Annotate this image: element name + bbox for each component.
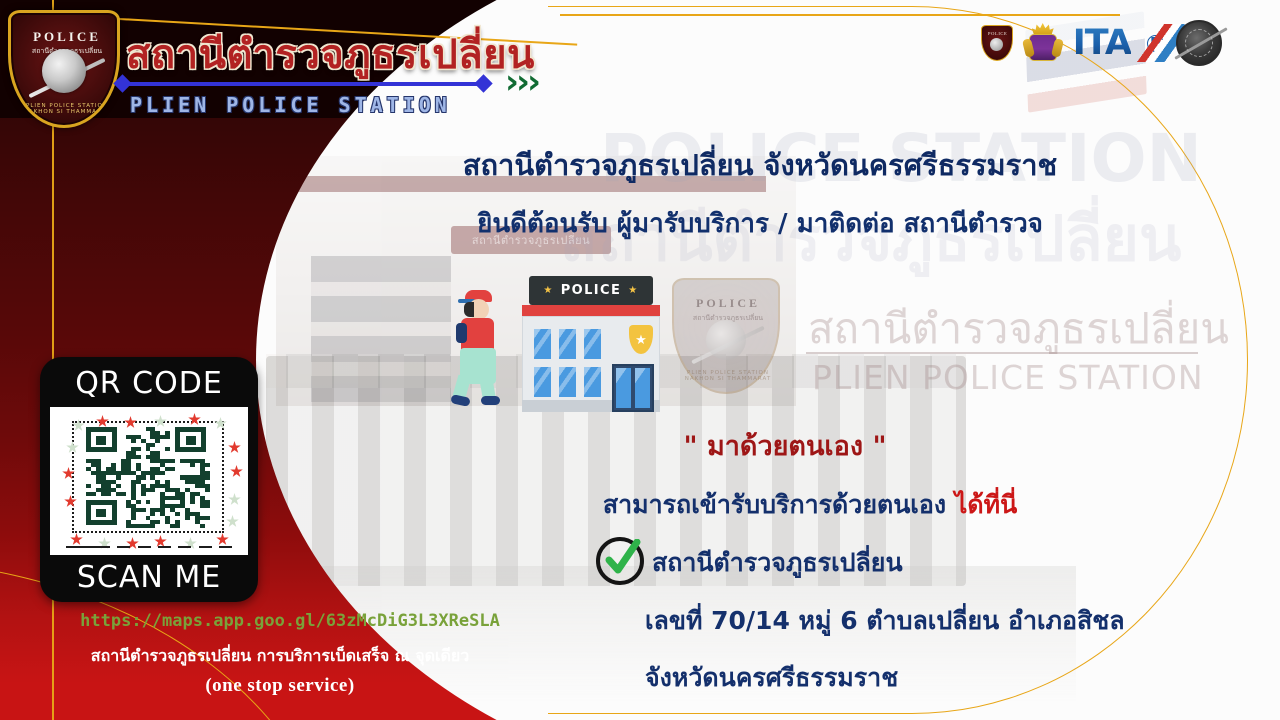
seal-pin-icon (1174, 27, 1227, 60)
person-shoe-right-icon (481, 396, 500, 405)
qr-module (170, 459, 175, 463)
building-window (558, 328, 577, 360)
qr-code-panel[interactable]: QR CODE SCAN ME (40, 357, 258, 602)
address-line-3: จังหวัดนครศรีธรรมราช (645, 658, 898, 698)
building-window (533, 366, 552, 398)
qr-module (141, 508, 146, 512)
qr-star-icon (230, 465, 243, 478)
qr-module (146, 500, 151, 504)
address-line-1: สถานีตำรวจภูธรเปลี่ยน (652, 543, 903, 583)
qr-module (116, 484, 121, 488)
watermark-shield-icon: POLICE สถานีตำรวจภูธรเปลี่ยน PLIEN POLIC… (672, 278, 780, 394)
walking-person-icon (455, 290, 511, 408)
qr-module (160, 471, 165, 475)
badge-sword-icon (28, 58, 105, 98)
person-bag-icon (456, 323, 467, 343)
qr-caption-en: (one stop service) (0, 675, 560, 697)
royal-thai-police-garuda-logo-icon (1025, 23, 1061, 63)
building-signboard: ★ POLICE ★ (529, 276, 653, 305)
address-line-2: เลขที่ 70/14 หมู่ 6 ตำบลเปลี่ยน อำเภอสิช… (645, 601, 1125, 641)
police-badge-logo-icon: POLICE (981, 25, 1013, 61)
qr-module (200, 524, 205, 528)
service-text-main: สามารถเข้ารับบริการด้วยตนเอง (603, 490, 955, 519)
building-window-row-top (533, 328, 602, 360)
building-door-icon (612, 364, 654, 412)
qr-finder-pattern (175, 427, 206, 452)
qr-module (141, 475, 146, 479)
qr-star-icon (126, 537, 139, 550)
qr-module (136, 447, 141, 451)
qr-module (175, 524, 180, 528)
qr-module (185, 516, 190, 520)
government-seal-logo-icon (1176, 20, 1222, 66)
ita-logo-icon: ITA P (1073, 21, 1164, 65)
poster-canvas: สถานีตำรวจภูธรเปลี่ยน POLICE สถานีตำรวจภ… (0, 0, 1280, 720)
building-window (583, 328, 602, 360)
badge-police-label: POLICE (11, 29, 120, 45)
qr-star-icon (228, 493, 241, 506)
qr-module (175, 512, 180, 516)
police-badge-logo-label: POLICE (982, 31, 1014, 36)
watermark-underline (806, 352, 1198, 354)
badge-arc-label: PLIEN POLICE STATION NAKHON SI THAMMARAT (11, 103, 120, 115)
qr-module (205, 463, 210, 467)
blue-divider-rule (122, 82, 484, 86)
building-red-band (522, 305, 660, 316)
watermark-station-name-en: PLIEN POLICE STATION (812, 358, 1204, 397)
qr-panel-title: QR CODE (40, 366, 258, 401)
qr-module (131, 439, 136, 443)
signboard-star-left-icon: ★ (543, 285, 553, 296)
qr-module (116, 475, 121, 479)
qr-module (91, 492, 96, 496)
qr-star-icon (228, 441, 241, 454)
header-station-name-th: สถานีตำรวจภูธรเปลี่ยน (126, 22, 535, 86)
header-station-name-en: PLIEN POLICE STATION (130, 93, 451, 117)
qr-finder-pattern (86, 427, 117, 452)
qr-module (150, 524, 155, 528)
qr-star-icon (226, 515, 239, 528)
quote-text: " มาด้วยตนเอง " (560, 424, 1010, 467)
qr-module (150, 443, 155, 447)
check-circle-icon (596, 537, 644, 585)
qr-module (121, 492, 126, 496)
partner-logo-row: POLICE ITA P (981, 20, 1222, 66)
qr-module (150, 512, 155, 516)
person-hair-icon (464, 302, 474, 317)
qr-module (205, 504, 210, 508)
qr-star-icon (216, 533, 229, 546)
page-subtitle: ยินดีต้อนรับ ผู้มารับบริการ / มาติดต่อ ส… (360, 203, 1160, 244)
chevron-right-icon: ››› (505, 62, 538, 102)
page-title: สถานีตำรวจภูธรเปลี่ยน จังหวัดนครศรีธรรมร… (360, 142, 1160, 188)
qr-module (150, 488, 155, 492)
qr-code-image[interactable] (86, 427, 210, 528)
qr-module (141, 492, 146, 496)
qr-module (155, 439, 160, 443)
gold-top-rule (560, 14, 1120, 16)
qr-star-icon (98, 537, 111, 550)
service-availability-text: สามารถเข้ารับบริการด้วยตนเอง ได้ที่นี่ (530, 485, 1090, 525)
signboard-label: POLICE (561, 283, 622, 298)
building-window (558, 366, 577, 398)
qr-code-surface[interactable] (50, 407, 248, 555)
qr-module (106, 492, 111, 496)
qr-module (136, 455, 141, 459)
building-window (533, 328, 552, 360)
qr-module (190, 463, 195, 467)
qr-module (165, 447, 170, 451)
qr-star-icon (70, 533, 83, 546)
qr-finder-pattern (86, 500, 117, 525)
badge-thai-label: สถานีตำรวจภูธรเปลี่ยน (11, 46, 120, 57)
qr-bottom-dashes (66, 546, 232, 548)
watermark-shield-thai-label: สถานีตำรวจภูธรเปลี่ยน (674, 313, 782, 324)
police-shield-badge-icon: POLICE สถานีตำรวจภูธรเปลี่ยน PLIEN POLIC… (8, 10, 120, 128)
qr-module (155, 520, 160, 524)
police-station-illustration: ★ POLICE ★ ★ (455, 272, 665, 417)
qr-star-icon (184, 537, 197, 550)
watermark-shield-arc-label: PLIEN POLICE STATION NAKHON SI THAMMARAT (674, 370, 782, 382)
qr-module (170, 467, 175, 471)
qr-module (136, 500, 141, 504)
station-building-icon: ★ POLICE ★ ★ (517, 276, 665, 412)
qr-panel-footer: SCAN ME (40, 560, 258, 595)
qr-module (205, 488, 210, 492)
signboard-star-right-icon: ★ (628, 285, 638, 296)
qr-module (165, 435, 170, 439)
qr-module (205, 475, 210, 479)
qr-map-url[interactable]: https://maps.app.goo.gl/63zMcDiG3L3XReSL… (0, 611, 580, 631)
qr-module (205, 516, 210, 520)
qr-module (131, 516, 136, 520)
watermark-shield-police-label: POLICE (674, 296, 782, 311)
service-text-highlight: ได้ที่นี่ (955, 490, 1017, 519)
building-window-row-bottom (533, 366, 602, 398)
qr-caption-th: สถานีตำรวจภูธรเปลี่ยน การบริการเบ็ดเสร็จ… (0, 644, 560, 669)
building-window (583, 366, 602, 398)
qr-module (86, 484, 91, 488)
ita-logo-text: ITA (1073, 23, 1131, 63)
watermark-shield-sword-icon (691, 325, 765, 364)
qr-module (190, 500, 195, 504)
